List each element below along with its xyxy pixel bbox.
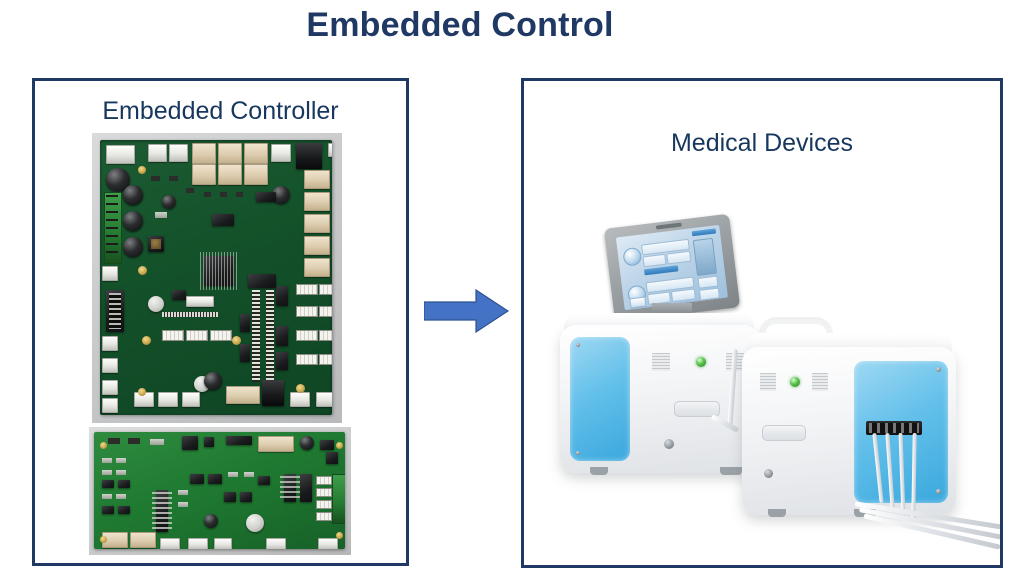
panel-embedded-controller: Embedded Controller	[32, 78, 409, 566]
device-rear-cable	[727, 349, 738, 429]
page-title: Embedded Control	[0, 6, 920, 45]
device-rear-cable	[711, 414, 740, 432]
device-right-label-plate	[762, 425, 806, 441]
panel-medical-devices: Medical Devices	[521, 78, 1003, 568]
right-arrow-icon	[424, 289, 509, 333]
device-right-vent-right	[812, 373, 828, 391]
device-right-power-led	[790, 377, 800, 387]
embedded-controller-board-bottom-image	[89, 427, 351, 555]
medical-device-with-cables	[524, 81, 1000, 565]
panel-left-heading: Embedded Controller	[35, 97, 406, 126]
embedded-controller-board-top-image	[92, 133, 342, 423]
device-right-vent-left	[760, 373, 776, 391]
medical-devices-image	[524, 81, 1000, 565]
pcb-bottom-substrate	[94, 432, 345, 549]
pcb-top-substrate	[100, 140, 332, 415]
